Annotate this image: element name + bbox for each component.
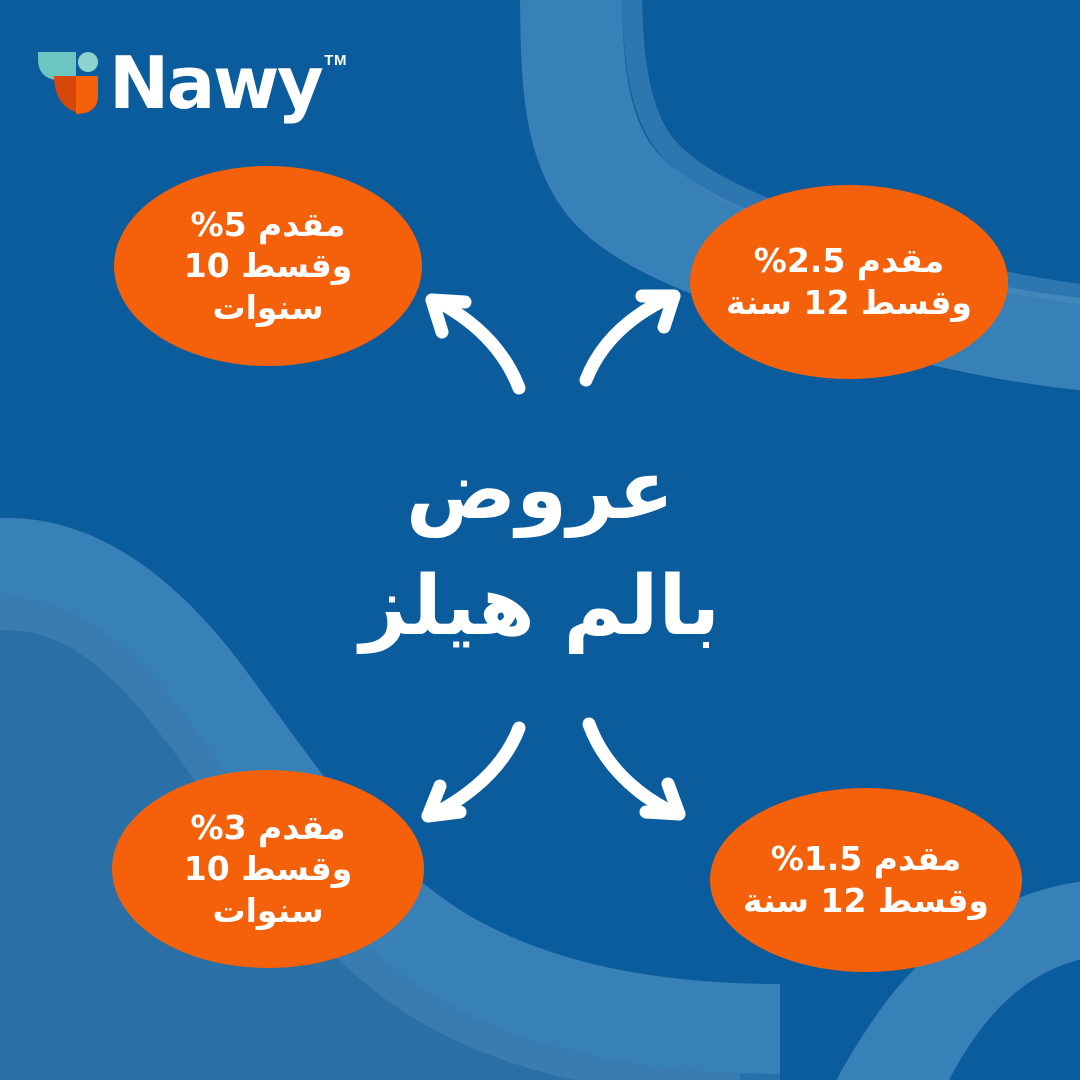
nawy-logo[interactable]: Nawy TM (38, 44, 347, 119)
trademark-symbol: TM (324, 52, 347, 69)
offer-bubble-top-right[interactable]: مقدم 2.5% وقسط 12 سنة (690, 185, 1008, 379)
headline-line-1: عروض (0, 442, 1080, 540)
offer-line: مقدم 2.5% (754, 240, 944, 282)
nawy-logo-text: Nawy (109, 47, 321, 119)
headline-line-2: بالم هيلز (0, 558, 1080, 656)
offer-line: مقدم 3% (191, 807, 346, 849)
page-title: عروض بالم هيلز (0, 442, 1080, 657)
offer-line: وقسط 12 سنة (726, 282, 972, 324)
offer-bubble-bottom-left[interactable]: مقدم 3% وقسط 10 سنوات (112, 770, 424, 968)
offer-line: سنوات (212, 287, 323, 329)
offer-line: وقسط 10 (184, 848, 352, 890)
offer-line: سنوات (212, 890, 323, 932)
nawy-logo-mark-icon (38, 50, 100, 118)
offer-line: وقسط 12 سنة (743, 880, 989, 922)
offer-bubble-top-left[interactable]: مقدم 5% وقسط 10 سنوات (114, 166, 422, 366)
nawy-logo-wordmark: Nawy TM (109, 44, 347, 119)
offer-bubble-bottom-right[interactable]: مقدم 1.5% وقسط 12 سنة (710, 788, 1022, 972)
offer-line: مقدم 5% (191, 204, 346, 246)
offer-line: مقدم 1.5% (771, 838, 961, 880)
poster-canvas: Nawy TM عروض بالم هيلز (0, 0, 1080, 1080)
offer-line: وقسط 10 (184, 245, 352, 287)
